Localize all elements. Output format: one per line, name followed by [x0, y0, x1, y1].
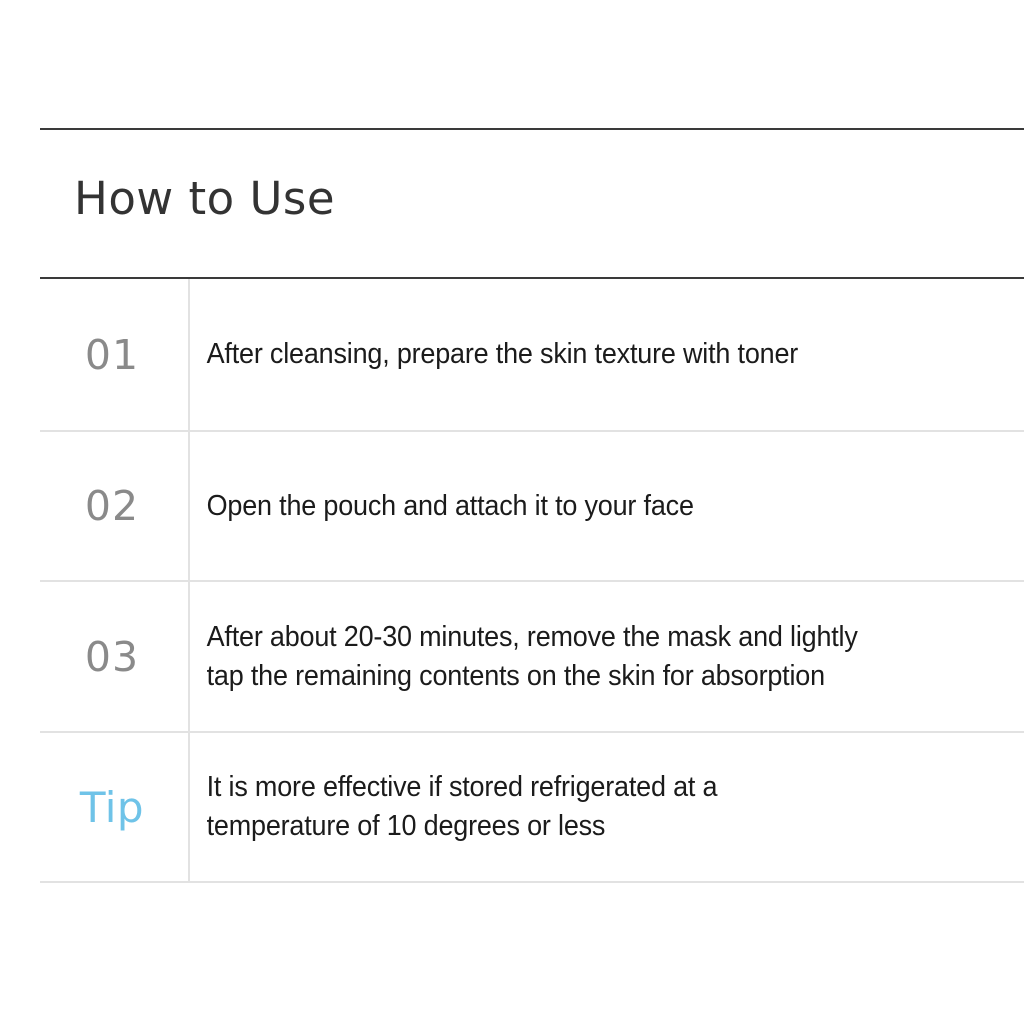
step-text-line: After cleansing, prepare the skin textur… — [207, 335, 957, 374]
step-text-line: It is more effective if stored refrigera… — [207, 768, 957, 807]
table-row: Tip It is more effective if stored refri… — [40, 733, 1024, 883]
top-rule-divider — [40, 128, 1024, 130]
step-description-01: After cleansing, prepare the skin textur… — [188, 335, 965, 374]
page-title: How to Use — [74, 173, 335, 225]
step-description-03: After about 20-30 minutes, remove the ma… — [188, 618, 965, 695]
table-row: 01 After cleansing, prepare the skin tex… — [40, 279, 1024, 432]
step-label-tip: Tip — [40, 783, 188, 832]
step-description-02: Open the pouch and attach it to your fac… — [188, 487, 965, 526]
step-number-01: 01 — [40, 331, 188, 379]
step-text-line: Open the pouch and attach it to your fac… — [207, 487, 957, 526]
steps-table: 01 After cleansing, prepare the skin tex… — [40, 279, 1024, 883]
step-text-line: tap the remaining contents on the skin f… — [207, 657, 957, 696]
step-text-line: After about 20-30 minutes, remove the ma… — [207, 618, 957, 657]
step-number-03: 03 — [40, 633, 188, 681]
step-text-line: temperature of 10 degrees or less — [207, 807, 957, 846]
how-to-use-panel: How to Use 01 After cleansing, prepare t… — [0, 0, 1024, 1024]
table-row: 02 Open the pouch and attach it to your … — [40, 432, 1024, 582]
step-description-tip: It is more effective if stored refrigera… — [188, 768, 965, 845]
table-row: 03 After about 20-30 minutes, remove the… — [40, 582, 1024, 733]
step-number-02: 02 — [40, 482, 188, 530]
